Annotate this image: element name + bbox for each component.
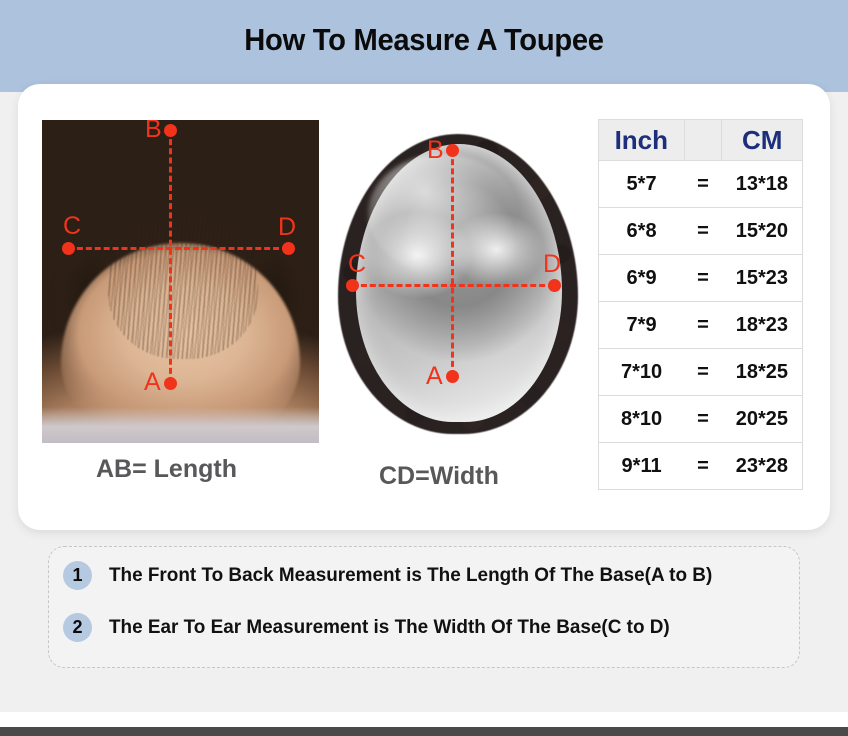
page-title: How To Measure A Toupee <box>25 22 822 58</box>
cell-cm: 20*25 <box>722 396 803 443</box>
cell-inch: 5*7 <box>599 161 685 208</box>
table-body: 5*7 = 13*18 6*8 = 15*20 6*9 = 15*23 7*9 … <box>599 161 803 490</box>
instruction-item-1: 1 The Front To Back Measurement is The L… <box>63 561 731 590</box>
bottom-dark-bar <box>0 727 848 736</box>
cell-inch: 6*9 <box>599 255 685 302</box>
instruction-text-1: The Front To Back Measurement is The Len… <box>109 564 712 587</box>
table-row: 7*9 = 18*23 <box>599 302 803 349</box>
cell-equals: = <box>684 255 722 302</box>
photo-thinning-hair-texture <box>108 217 258 359</box>
cell-cm: 18*25 <box>722 349 803 396</box>
cell-inch: 9*11 <box>599 443 685 490</box>
table-header-cm: CM <box>722 120 803 161</box>
bottom-white-strip <box>0 712 848 727</box>
table-header-inch: Inch <box>599 120 685 161</box>
cell-cm: 15*23 <box>722 255 803 302</box>
instruction-item-2: 2 The Ear To Ear Measurement is The Widt… <box>63 613 687 642</box>
cell-inch: 6*8 <box>599 208 685 255</box>
header-band: How To Measure A Toupee <box>0 0 848 92</box>
size-conversion-table: Inch CM 5*7 = 13*18 6*8 = 15*20 6*9 = 15… <box>598 119 803 490</box>
hairpiece-highlight <box>368 154 518 274</box>
cell-cm: 13*18 <box>722 161 803 208</box>
table-row: 8*10 = 20*25 <box>599 396 803 443</box>
table-header-row: Inch CM <box>599 120 803 161</box>
table-row: 7*10 = 18*25 <box>599 349 803 396</box>
scalp-photo: B A C D <box>42 120 319 443</box>
instructions-panel: 1 The Front To Back Measurement is The L… <box>48 546 800 668</box>
cell-equals: = <box>684 302 722 349</box>
cell-cm: 23*28 <box>722 443 803 490</box>
cell-inch: 7*10 <box>599 349 685 396</box>
table-row: 5*7 = 13*18 <box>599 161 803 208</box>
infographic-page: How To Measure A Toupee B A C D <box>0 0 848 736</box>
hairpiece-diagram: B A C D <box>334 128 582 440</box>
table-row: 6*8 = 15*20 <box>599 208 803 255</box>
cell-cm: 18*23 <box>722 302 803 349</box>
cell-equals: = <box>684 443 722 490</box>
cell-equals: = <box>684 349 722 396</box>
photo-background-bottom <box>42 407 319 443</box>
instruction-badge-2: 2 <box>63 613 92 642</box>
table-row: 9*11 = 23*28 <box>599 443 803 490</box>
table-row: 6*9 = 15*23 <box>599 255 803 302</box>
cell-equals: = <box>684 208 722 255</box>
cell-inch: 7*9 <box>599 302 685 349</box>
cell-cm: 15*20 <box>722 208 803 255</box>
cell-inch: 8*10 <box>599 396 685 443</box>
hairpiece-caption: CD=Width <box>379 462 499 491</box>
cell-equals: = <box>684 396 722 443</box>
table-header-spacer <box>684 120 722 161</box>
cell-equals: = <box>684 161 722 208</box>
instruction-badge-1: 1 <box>63 561 92 590</box>
instruction-text-2: The Ear To Ear Measurement is The Width … <box>109 616 670 639</box>
photo-caption: AB= Length <box>96 455 237 484</box>
